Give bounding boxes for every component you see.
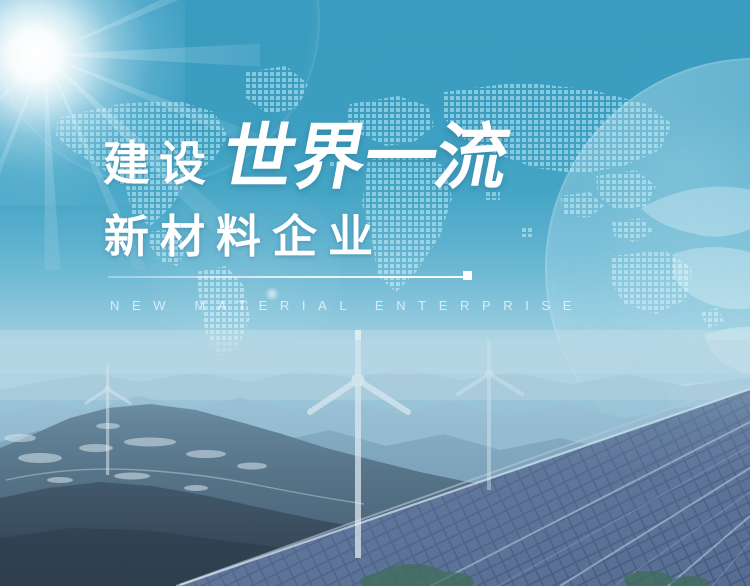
horizontal-rule — [108, 276, 470, 278]
headline-prefix: 建设 — [103, 140, 215, 194]
rule-end-square — [463, 271, 472, 280]
hero-banner: 建设 世界一流 新材料企业 NEW MATERIAL ENTERPRISE — [0, 0, 750, 586]
banner-copy: 建设 世界一流 新材料企业 NEW MATERIAL ENTERPRISE — [0, 0, 750, 586]
headline-emphasis: 世界一流 — [216, 122, 514, 194]
headline-line-1: 建设 世界一流 — [103, 122, 507, 194]
banner-subtitle: NEW MATERIAL ENTERPRISE — [110, 299, 584, 312]
headline-line-2: 新材料企业 — [104, 214, 384, 259]
